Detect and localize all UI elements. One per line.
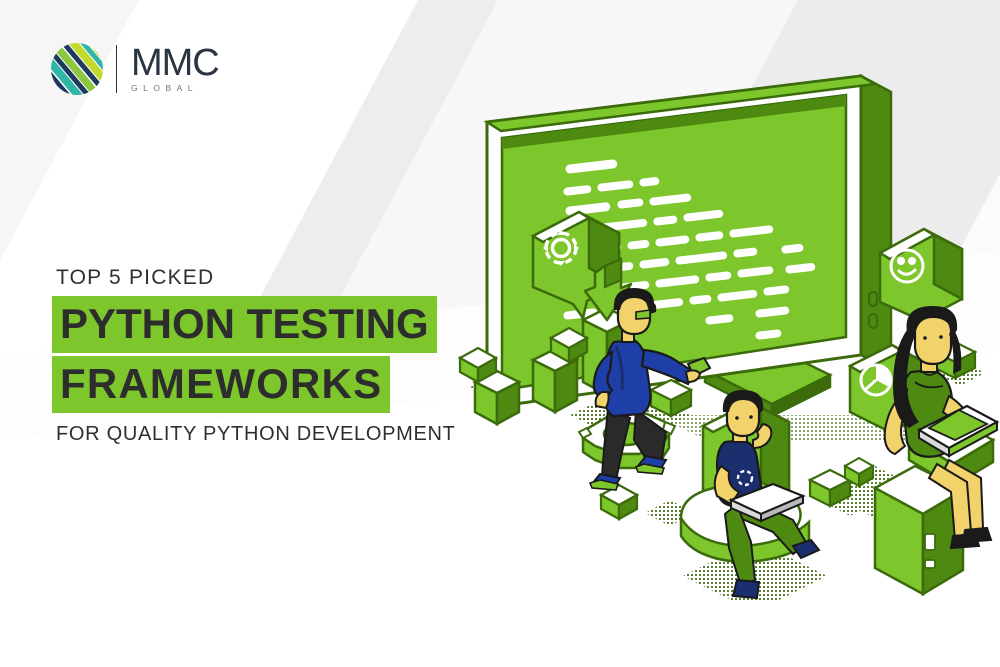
swirl-mark-icon xyxy=(48,40,106,98)
logo-divider xyxy=(116,45,117,93)
headline-line-2: FRAMEWORKS xyxy=(52,356,390,413)
logo-wordmark-text: MMC xyxy=(131,46,219,80)
illustration-svg xyxy=(455,70,1000,600)
logo-wordmark: MMC GLOBAL xyxy=(131,46,219,93)
eyebrow-text: TOP 5 PICKED xyxy=(56,266,482,290)
mmc-global-logo[interactable]: MMC GLOBAL xyxy=(48,40,219,98)
logo-tagline-text: GLOBAL xyxy=(131,83,219,93)
headline-line-1: PYTHON TESTING xyxy=(52,296,437,353)
headline-block: TOP 5 PICKED PYTHON TESTING FRAMEWORKS F… xyxy=(52,266,482,446)
banner-canvas: MMC GLOBAL TOP 5 PICKED PYTHON TESTING F… xyxy=(0,0,1000,667)
subline-text: FOR QUALITY PYTHON DEVELOPMENT xyxy=(56,423,482,446)
hero-illustration xyxy=(455,70,1000,600)
